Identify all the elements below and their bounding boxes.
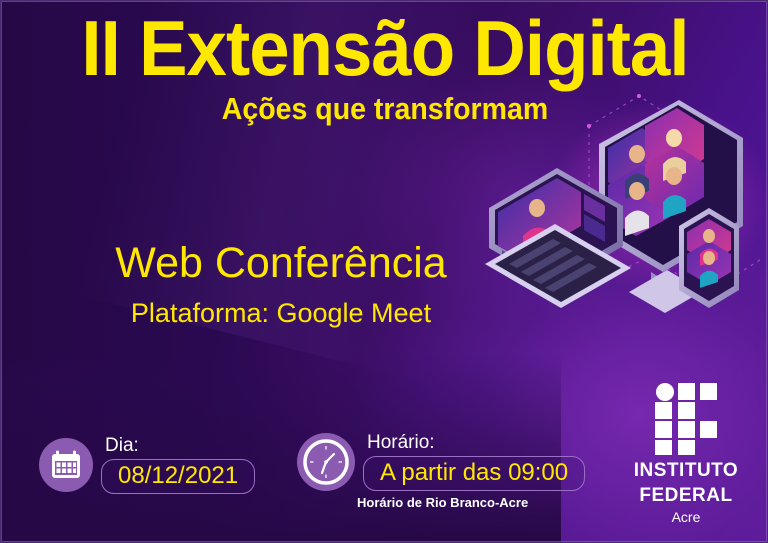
event-type: Web Conferência [1, 239, 561, 288]
poster-headline: II Extensão Digital [28, 11, 742, 85]
smartphone-device [679, 208, 739, 308]
headline-block: II Extensão Digital Ações que transforma… [1, 11, 768, 127]
event-poster: II Extensão Digital Ações que transforma… [0, 0, 768, 543]
if-grid-logo-mark [655, 383, 717, 455]
logo-institution-line2: FEDERAL [626, 486, 746, 505]
poster-subheadline: Ações que transformam [32, 91, 739, 127]
time-label: Horário: [363, 432, 585, 454]
date-label: Dia: [101, 435, 255, 457]
date-info: Dia: 08/12/2021 [39, 435, 255, 494]
clock-icon [297, 433, 355, 491]
institutional-logo: INSTITUTO FEDERAL Acre [626, 383, 746, 525]
time-text-group: Horário: A partir das 09:00 [341, 432, 585, 491]
logo-institution-line1: INSTITUTO [626, 461, 746, 480]
timezone-note: Horário de Rio Branco-Acre [357, 495, 528, 510]
clock-glyph [301, 437, 351, 487]
date-text-group: Dia: 08/12/2021 [79, 435, 255, 494]
calendar-glyph [49, 448, 83, 482]
date-value: 08/12/2021 [118, 462, 238, 489]
date-pill: 08/12/2021 [101, 459, 255, 494]
event-info-block: Web Conferência Plataforma: Google Meet [1, 239, 561, 329]
time-pill: A partir das 09:00 [363, 456, 585, 491]
event-platform: Plataforma: Google Meet [1, 298, 561, 329]
logo-campus: Acre [626, 509, 746, 525]
time-value: A partir das 09:00 [380, 459, 568, 486]
calendar-icon [39, 438, 93, 492]
time-info: Horário: A partir das 09:00 [297, 432, 585, 491]
